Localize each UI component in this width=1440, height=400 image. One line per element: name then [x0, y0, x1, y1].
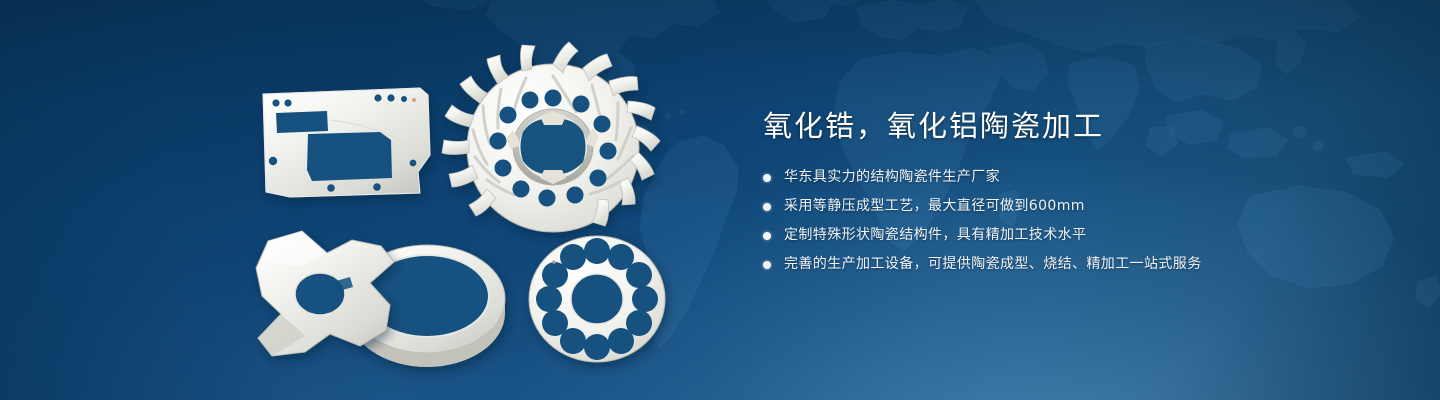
ceramic-cross-part [256, 231, 394, 356]
bullet-dot-icon [763, 261, 771, 269]
ceramic-impeller-part [442, 42, 660, 232]
bullet-dot-icon [763, 203, 771, 211]
hero-banner: 氧化锆，氧化铝陶瓷加工 华东具实力的结构陶瓷件生产厂家 采用等静压成型工艺，最大… [0, 0, 1440, 400]
list-item: 定制特殊形状陶瓷结构件，具有精加工技术水平 [763, 225, 1383, 246]
ceramic-products-image [0, 0, 720, 400]
list-item: 完善的生产加工设备，可提供陶瓷成型、烧结、精加工一站式服务 [763, 254, 1383, 275]
bullet-dot-icon [763, 232, 771, 240]
feature-text: 华东具实力的结构陶瓷件生产厂家 [784, 167, 1000, 188]
ceramic-plate-part [263, 88, 430, 197]
feature-text: 完善的生产加工设备，可提供陶瓷成型、烧结、精加工一站式服务 [784, 254, 1202, 275]
ceramic-perforated-disc-part [529, 236, 665, 362]
page-title: 氧化锆，氧化铝陶瓷加工 [763, 108, 1383, 145]
list-item: 采用等静压成型工艺，最大直径可做到600mm [763, 196, 1383, 217]
bullet-dot-icon [763, 174, 771, 182]
banner-copy: 氧化锆，氧化铝陶瓷加工 华东具实力的结构陶瓷件生产厂家 采用等静压成型工艺，最大… [763, 108, 1383, 275]
list-item: 华东具实力的结构陶瓷件生产厂家 [763, 167, 1383, 188]
feature-text: 定制特殊形状陶瓷结构件，具有精加工技术水平 [784, 225, 1086, 246]
feature-list: 华东具实力的结构陶瓷件生产厂家 采用等静压成型工艺，最大直径可做到600mm 定… [763, 167, 1383, 275]
feature-text: 采用等静压成型工艺，最大直径可做到600mm [784, 196, 1085, 217]
